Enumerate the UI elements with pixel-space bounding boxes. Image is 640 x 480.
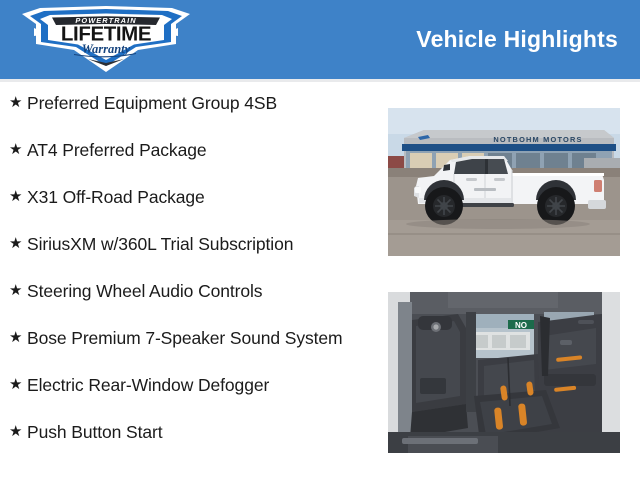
vehicle-exterior-photo[interactable]: NOTBOHM MOTORS — [388, 108, 620, 256]
star-bullet-icon: ★ — [9, 182, 27, 211]
list-item-label: Electric Rear-Window Defogger — [27, 370, 366, 396]
list-item: ★ Push Button Start — [0, 417, 372, 446]
list-item-label: X31 Off-Road Package — [27, 182, 366, 208]
vehicle-highlights-slide: POWERTRAIN LIFETIME Warranty Vehicle Hig… — [0, 0, 640, 480]
list-item: ★ X31 Off-Road Package — [0, 182, 372, 211]
star-bullet-icon: ★ — [9, 229, 27, 258]
logo-warranty-text: Warranty — [82, 42, 131, 56]
window-sign-text: NO — [515, 321, 527, 330]
star-bullet-icon: ★ — [9, 276, 27, 305]
list-item-label: Preferred Equipment Group 4SB — [27, 88, 366, 114]
list-item-label: Push Button Start — [27, 417, 366, 443]
header-divider — [0, 79, 640, 82]
list-item: ★ SiriusXM w/360L Trial Subscription — [0, 229, 372, 258]
list-item: ★ Bose Premium 7-Speaker Sound System — [0, 323, 372, 352]
star-bullet-icon: ★ — [9, 323, 27, 352]
list-item: ★ Preferred Equipment Group 4SB — [0, 88, 372, 117]
list-item-label: Bose Premium 7-Speaker Sound System — [27, 323, 366, 349]
vehicle-highlights-list: ★ Preferred Equipment Group 4SB ★ AT4 Pr… — [0, 88, 372, 464]
vehicle-interior-photo[interactable]: NO — [388, 292, 620, 453]
page-title: Vehicle Highlights — [416, 26, 618, 53]
powertrain-lifetime-warranty-logo: POWERTRAIN LIFETIME Warranty — [18, 4, 194, 76]
star-bullet-icon: ★ — [9, 88, 27, 117]
list-item: ★ AT4 Preferred Package — [0, 135, 372, 164]
dealer-sign-text: NOTBOHM MOTORS — [493, 135, 582, 144]
star-bullet-icon: ★ — [9, 417, 27, 446]
list-item: ★ Steering Wheel Audio Controls — [0, 276, 372, 305]
list-item-label: SiriusXM w/360L Trial Subscription — [27, 229, 366, 255]
list-item: ★ Electric Rear-Window Defogger — [0, 370, 372, 399]
list-item-label: Steering Wheel Audio Controls — [27, 276, 366, 302]
star-bullet-icon: ★ — [9, 370, 27, 399]
list-item-label: AT4 Preferred Package — [27, 135, 366, 161]
star-bullet-icon: ★ — [9, 135, 27, 164]
